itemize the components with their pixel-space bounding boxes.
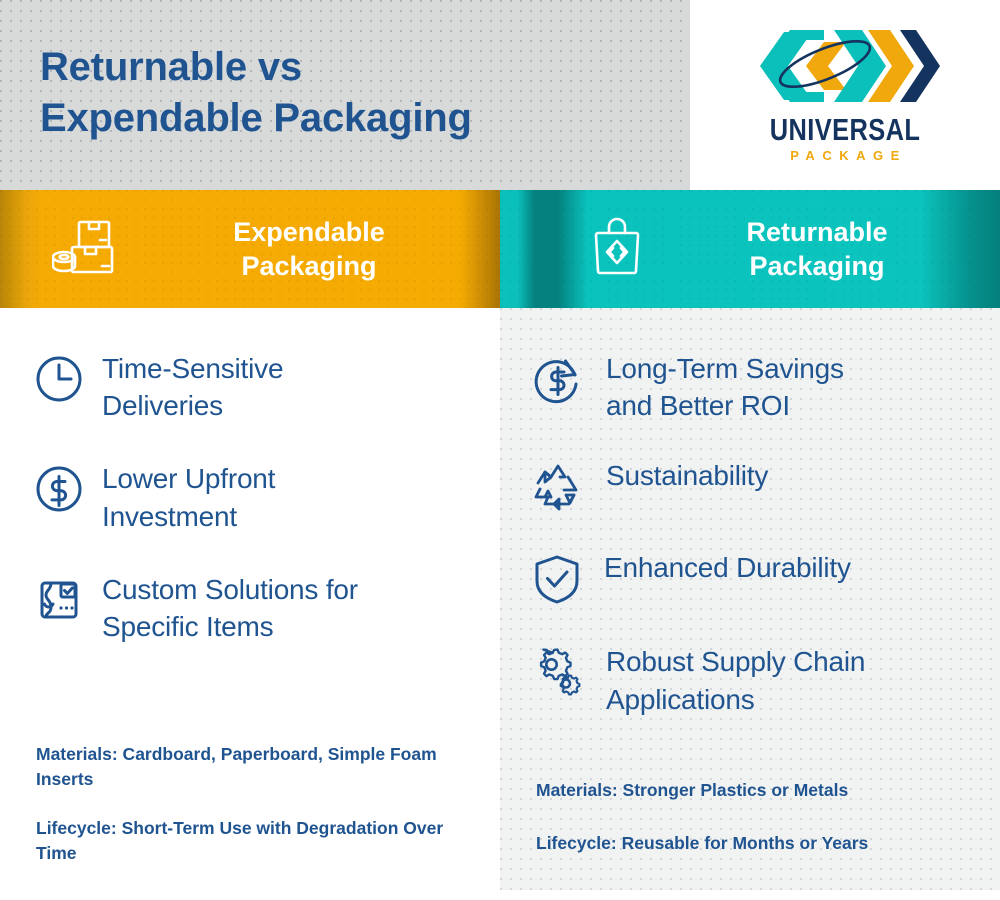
banner-expendable: Expendable Packaging xyxy=(0,190,500,308)
shield-check-icon xyxy=(532,549,582,610)
feature-label-line-1: Long-Term Savings xyxy=(606,353,844,384)
page-title-line-2: Expendable Packaging xyxy=(40,93,660,144)
banner-expendable-label: Expendable Packaging xyxy=(148,215,470,283)
feature-item: Robust Supply Chain Applications xyxy=(532,643,980,717)
note-lifecycle: Lifecycle: Reusable for Months or Years xyxy=(536,831,970,856)
feature-label-line-1: Lower Upfront xyxy=(102,463,275,494)
returnable-notes: Materials: Stronger Plastics or Metals L… xyxy=(500,778,1000,856)
feature-item: Sustainability xyxy=(532,457,980,516)
expendable-feature-list: Time-Sensitive Deliveries Lower Upfront … xyxy=(0,308,500,681)
feature-label: Enhanced Durability xyxy=(604,549,851,586)
gears-icon xyxy=(532,643,584,704)
feature-label-line-1: Custom Solutions for xyxy=(102,574,358,605)
feature-label: Custom Solutions for Specific Items xyxy=(102,571,358,645)
feature-label: Sustainability xyxy=(606,457,768,494)
feature-label: Robust Supply Chain Applications xyxy=(606,643,865,717)
banner-returnable: Returnable Packaging xyxy=(500,190,1000,308)
recycle-icon xyxy=(532,457,584,516)
infographic-page: Returnable vs Expendable Packaging UN xyxy=(0,0,1000,900)
banner-returnable-label-line-2: Packaging xyxy=(749,251,884,281)
dollar-refresh-circle-icon xyxy=(532,350,584,411)
feature-label-line-2: Applications xyxy=(606,684,755,715)
column-expendable: Time-Sensitive Deliveries Lower Upfront … xyxy=(0,308,500,900)
feature-label: Time-Sensitive Deliveries xyxy=(102,350,283,424)
note-lifecycle: Lifecycle: Short-Term Use with Degradati… xyxy=(36,816,466,866)
feature-label: Lower Upfront Investment xyxy=(102,460,275,534)
dollar-circle-icon xyxy=(34,460,84,519)
feature-item: Long-Term Savings and Better ROI xyxy=(532,350,980,424)
feature-item: Enhanced Durability xyxy=(532,549,980,610)
brand-logo: UNIVERSAL PACKAGE xyxy=(750,20,940,162)
note-materials: Materials: Cardboard, Paperboard, Simple… xyxy=(36,742,466,792)
feature-item: Lower Upfront Investment xyxy=(34,460,476,534)
universal-chevrons-orbit-logo-icon xyxy=(750,20,940,112)
column-returnable: Long-Term Savings and Better ROI xyxy=(500,308,1000,890)
logo-zone: UNIVERSAL PACKAGE xyxy=(690,0,1000,190)
feature-label: Long-Term Savings and Better ROI xyxy=(606,350,844,424)
expendable-notes: Materials: Cardboard, Paperboard, Simple… xyxy=(0,742,500,865)
feature-label-line-2: and Better ROI xyxy=(606,390,790,421)
feature-label-line-2: Deliveries xyxy=(102,390,223,421)
clock-icon xyxy=(34,350,84,409)
logo-wordmark: UNIVERSAL xyxy=(767,114,923,145)
banner-returnable-label: Returnable Packaging xyxy=(664,215,970,283)
page-title: Returnable vs Expendable Packaging xyxy=(40,42,660,144)
custom-package-check-icon xyxy=(34,571,84,630)
shopping-bag-arrows-icon xyxy=(592,216,642,283)
feature-label-line-1: Enhanced Durability xyxy=(604,552,851,583)
page-title-line-1: Returnable vs xyxy=(40,42,660,93)
banner-expendable-label-line-1: Expendable xyxy=(233,217,385,247)
banner-expendable-label-line-2: Packaging xyxy=(241,251,376,281)
feature-item: Time-Sensitive Deliveries xyxy=(34,350,476,424)
feature-label-line-2: Specific Items xyxy=(102,611,273,642)
feature-label-line-1: Robust Supply Chain xyxy=(606,646,865,677)
feature-label-line-2: Investment xyxy=(102,501,237,532)
note-materials: Materials: Stronger Plastics or Metals xyxy=(536,778,970,803)
stacked-boxes-tape-icon xyxy=(52,216,126,283)
header-band: Returnable vs Expendable Packaging xyxy=(0,0,690,190)
banner-returnable-label-line-1: Returnable xyxy=(746,217,887,247)
returnable-feature-list: Long-Term Savings and Better ROI xyxy=(500,308,1000,751)
feature-label-line-1: Time-Sensitive xyxy=(102,353,283,384)
feature-item: Custom Solutions for Specific Items xyxy=(34,571,476,645)
logo-subtitle: PACKAGE xyxy=(750,149,940,162)
feature-label-line-1: Sustainability xyxy=(606,460,768,491)
